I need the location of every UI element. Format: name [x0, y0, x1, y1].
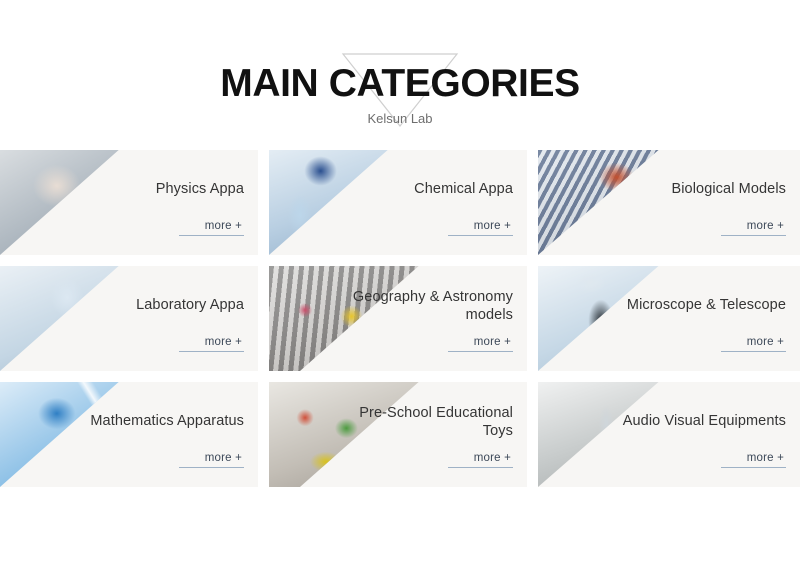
card-image: [269, 266, 527, 371]
page-header: MAIN CATEGORIES Kelsun Lab: [0, 0, 800, 140]
category-card-laboratory-appa[interactable]: Laboratory Appa more +: [0, 266, 258, 371]
card-image: [0, 150, 258, 255]
card-image-mathematics: [0, 382, 258, 487]
category-card-pre-school-educational-toys[interactable]: Pre-School Educational Toys more +: [269, 382, 527, 487]
more-link[interactable]: more +: [179, 220, 244, 236]
card-title: Laboratory Appa: [136, 266, 244, 314]
card-image: [538, 382, 800, 487]
category-card-geography-astronomy-models[interactable]: Geography & Astronomy models more +: [269, 266, 527, 371]
more-link[interactable]: more +: [179, 452, 244, 468]
card-image: [0, 382, 258, 487]
more-link[interactable]: more +: [721, 336, 786, 352]
card-title: Biological Models: [671, 150, 786, 198]
category-card-microscope-telescope[interactable]: Microscope & Telescope more +: [538, 266, 800, 371]
card-image: [269, 382, 527, 487]
card-image-chemical: [269, 150, 527, 255]
category-card-biological-models[interactable]: Biological Models more +: [538, 150, 800, 255]
card-image-microscope: [538, 266, 800, 371]
card-image-geography: [269, 266, 527, 371]
card-image: [0, 266, 258, 371]
more-link[interactable]: more +: [448, 220, 513, 236]
card-image: [269, 150, 527, 255]
card-image-physics: [0, 150, 258, 255]
more-link[interactable]: more +: [448, 336, 513, 352]
card-image: [538, 266, 800, 371]
card-image-toys: [269, 382, 527, 487]
category-card-physics-appa[interactable]: Physics Appa more +: [0, 150, 258, 255]
card-image: [538, 150, 800, 255]
categories-page: MAIN CATEGORIES Kelsun Lab Physics Appa …: [0, 0, 800, 563]
card-title: Mathematics Apparatus: [90, 382, 244, 430]
more-link[interactable]: more +: [721, 220, 786, 236]
card-image-laboratory: [0, 266, 258, 371]
category-card-mathematics-apparatus[interactable]: Mathematics Apparatus more +: [0, 382, 258, 487]
category-card-audio-visual-equipments[interactable]: Audio Visual Equipments more +: [538, 382, 800, 487]
more-link[interactable]: more +: [721, 452, 786, 468]
card-title: Microscope & Telescope: [627, 266, 786, 314]
more-link[interactable]: more +: [448, 452, 513, 468]
category-card-chemical-appa[interactable]: Chemical Appa more +: [269, 150, 527, 255]
card-image-biological: [538, 150, 800, 255]
card-image-audio-visual: [538, 382, 800, 487]
page-subtitle: Kelsun Lab: [0, 103, 800, 125]
page-title: MAIN CATEGORIES: [0, 0, 800, 103]
card-title: Physics Appa: [156, 150, 244, 198]
card-title: Chemical Appa: [414, 150, 513, 198]
more-link[interactable]: more +: [179, 336, 244, 352]
category-grid: Physics Appa more + Chemical Appa more +: [0, 150, 800, 487]
